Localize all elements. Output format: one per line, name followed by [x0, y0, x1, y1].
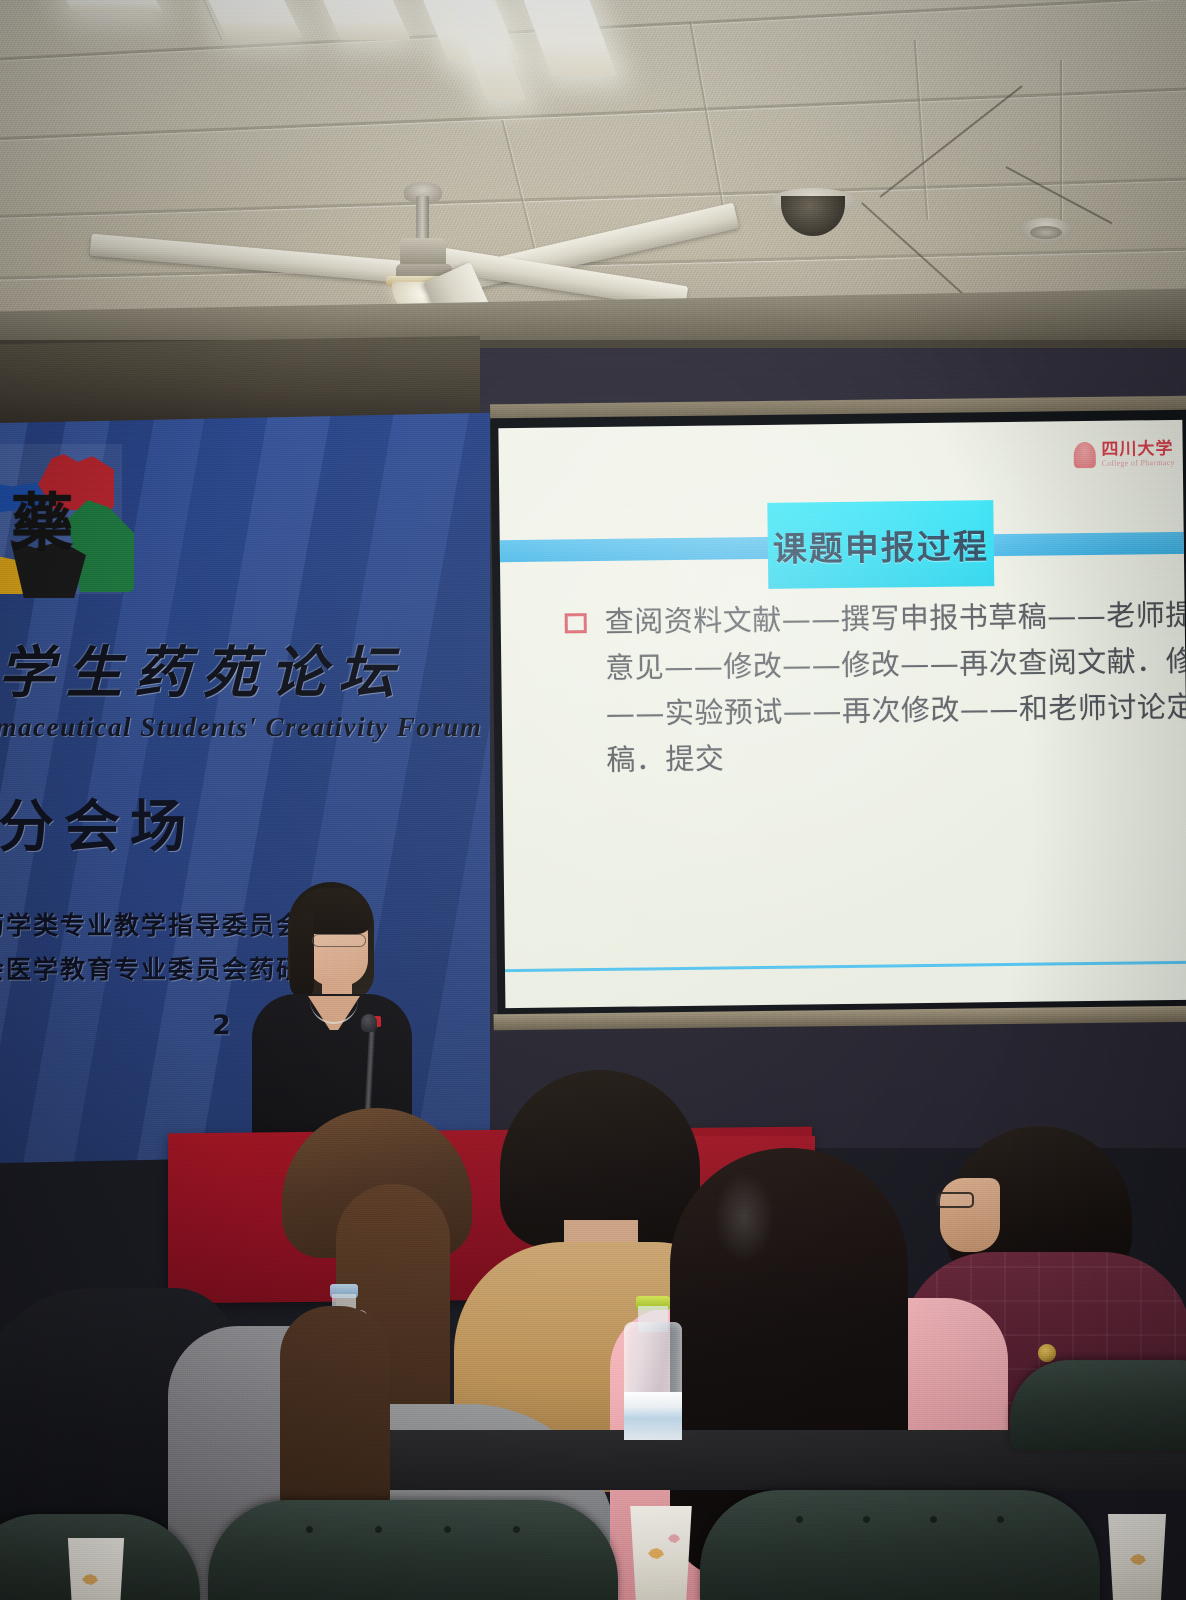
cup-leaf-icon [668, 1534, 680, 1543]
slide-title: 课题申报过程 [773, 519, 990, 571]
chair-vent-hole [375, 1526, 382, 1533]
screen-frame: 四川大学 College of Pharmacy 课题申报过程 查阅资料文献——… [490, 410, 1186, 1019]
university-seal-icon [1073, 442, 1095, 468]
banner-subtitle: 析分会场 [0, 796, 452, 860]
audience-jacket-button [1038, 1344, 1056, 1362]
slide-body-line: ——实验预试——再次修改——和老师讨论定 [606, 682, 1186, 737]
cup-leaf-icon [648, 1548, 664, 1559]
projection-screen: 四川大学 College of Pharmacy 课题申报过程 查阅资料文献——… [490, 396, 1186, 1053]
slide-footer-line [505, 961, 1186, 972]
auditorium-chair[interactable] [1010, 1360, 1186, 1450]
slide-logo-chinese: 四川大学 [1101, 440, 1174, 459]
paper-cup [64, 1538, 128, 1600]
square-bullet-icon [565, 613, 587, 633]
chair-vent-hole [513, 1526, 520, 1533]
chair-vent-hole [444, 1526, 451, 1533]
banner-date: 2 [212, 1010, 234, 1041]
forum-logo: 藥 [0, 444, 122, 594]
speaker-hair-side [290, 912, 314, 998]
bottle-body [624, 1322, 682, 1440]
bottle-label [624, 1392, 682, 1440]
chair-vent-hole [306, 1526, 313, 1533]
paper-cup [626, 1506, 696, 1600]
slide-body-text: 查阅资料文献——撰写申报书草稿——老师提 意见——修改——修改——再次查阅文献．… [604, 590, 1186, 783]
event-backdrop-banner: 藥 大学生药苑论坛 Pharmaceutical Students' Creat… [0, 413, 490, 1163]
speaker-glasses [312, 934, 366, 947]
slide-body-line: 查阅资料文献——撰写申报书草稿——老师提 [604, 590, 1186, 645]
lecture-room-photo: 藥 大学生药苑论坛 Pharmaceutical Students' Creat… [0, 0, 1186, 1600]
microphone-icon [361, 1014, 377, 1032]
chair-vent-hole [930, 1516, 937, 1523]
cup-leaf-icon [1130, 1554, 1146, 1565]
fan-downrod [416, 196, 429, 242]
chair-vent-hole [863, 1516, 870, 1523]
auditorium-chair[interactable] [208, 1500, 618, 1600]
slide-body-line: 意见——修改——修改——再次查阅文献．修 [605, 636, 1186, 691]
presentation-slide: 四川大学 College of Pharmacy 课题申报过程 查阅资料文献——… [498, 420, 1186, 1008]
banner-title-chinese: 大学生药苑论坛 [0, 642, 450, 706]
paper-cup [1104, 1514, 1170, 1600]
audience-hair-highlight [714, 1172, 774, 1262]
chair-vent-hole [997, 1516, 1004, 1523]
slide-title-box: 课题申报过程 [767, 500, 994, 589]
auditorium-chair[interactable] [700, 1490, 1100, 1600]
chair-vent-holes [306, 1526, 519, 1533]
slide-university-logo: 四川大学 College of Pharmacy [1073, 440, 1175, 469]
logo-character: 藥 [0, 488, 98, 560]
smoke-detector-vent [1030, 226, 1062, 239]
banner-title-english: Pharmaceutical Students' Creativity Foru… [0, 710, 474, 744]
chair-vent-hole [796, 1516, 803, 1523]
slide-body-line: 稿．提交 [606, 728, 1186, 783]
water-bottle-clear [624, 1296, 682, 1444]
slide-logo-english: College of Pharmacy [1102, 458, 1175, 469]
chair-vent-holes [796, 1516, 1004, 1523]
cup-leaf-icon [82, 1574, 98, 1585]
fluorescent-ceiling-light [59, 0, 163, 12]
